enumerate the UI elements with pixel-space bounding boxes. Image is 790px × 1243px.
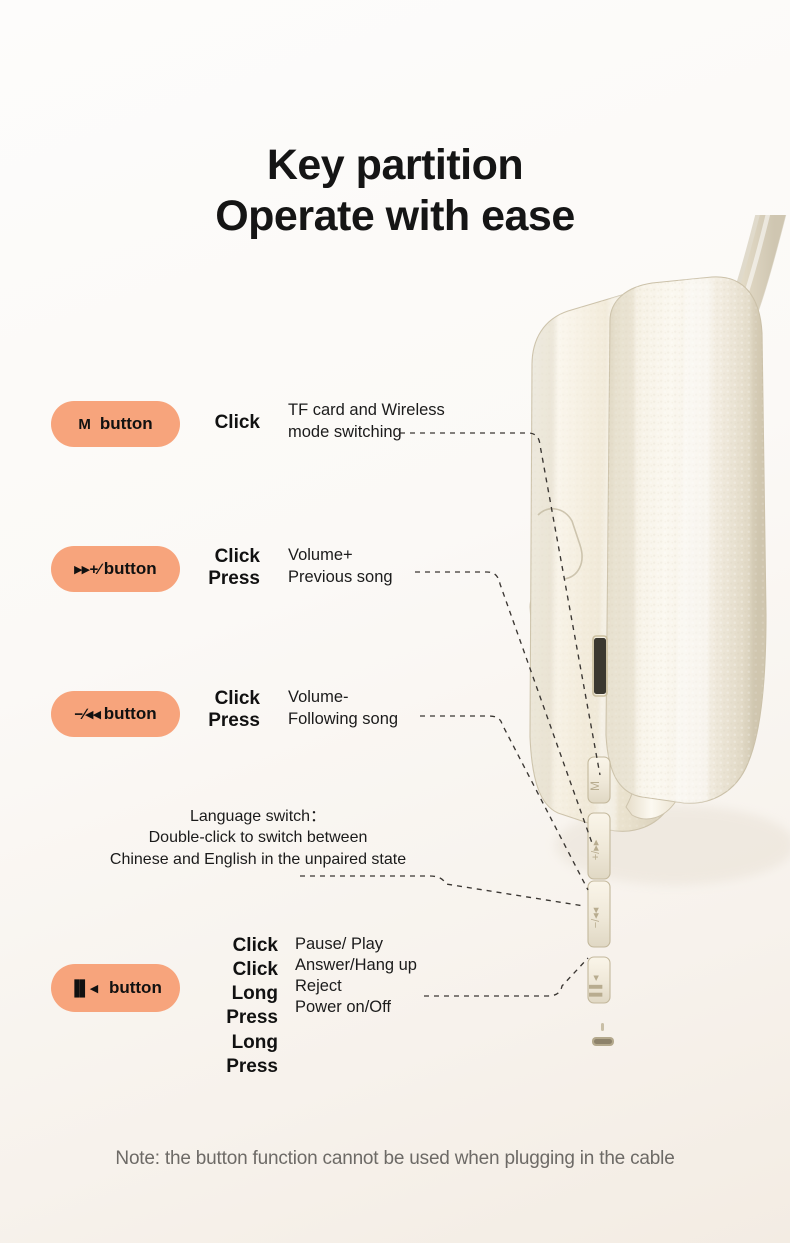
- svg-text:−/◂◂: −/◂◂: [590, 907, 602, 928]
- language-note-line-2: Double-click to switch between: [28, 827, 488, 848]
- description-item: TF card and Wireless: [288, 400, 478, 422]
- description-item: Reject: [295, 976, 505, 997]
- language-switch-note: Language switch： Double-click to switch …: [28, 806, 488, 870]
- title-line-2: Operate with ease: [0, 191, 790, 242]
- description-item: Volume+: [288, 545, 478, 567]
- description-column-volume-up: Volume+ Previous song: [288, 545, 478, 589]
- title-line-1: Key partition: [0, 140, 790, 191]
- action-item: Press: [198, 568, 260, 590]
- action-column-volume-up: Click Press: [198, 546, 260, 591]
- svg-text:M: M: [588, 781, 602, 791]
- action-column-volume-down: Click Press: [198, 688, 260, 733]
- description-item: Answer/Hang up: [295, 955, 505, 976]
- action-item: Click: [178, 958, 278, 982]
- physical-button-m: M: [588, 757, 610, 803]
- action-item: Press: [198, 710, 260, 732]
- physical-button-volume-down: −/◂◂: [588, 881, 610, 947]
- action-item: Click: [198, 412, 260, 434]
- pill-m-button[interactable]: M button: [51, 401, 180, 447]
- physical-button-play-pause: ▌▌◂: [588, 957, 610, 1003]
- pill-volume-up-button[interactable]: ▸▸+∕ button: [51, 546, 180, 592]
- charging-port-shape: [592, 1023, 614, 1046]
- description-item: Pause/ Play: [295, 934, 505, 955]
- description-column-volume-down: Volume- Following song: [288, 687, 488, 731]
- pill-glyph-volume-down: −∕◂◂: [74, 707, 100, 722]
- tf-card-slot-shape: [593, 636, 607, 696]
- pill-play-pause-button[interactable]: ▐▌◂ button: [51, 964, 180, 1012]
- description-item: Power on/Off: [295, 997, 505, 1018]
- svg-text:+/▸▸: +/▸▸: [590, 839, 602, 860]
- action-item: Click: [178, 934, 278, 958]
- pill-word-volume-down: button: [104, 704, 157, 724]
- description-item: Following song: [288, 709, 488, 731]
- language-note-line-3: Chinese and English in the unpaired stat…: [28, 849, 488, 870]
- action-item: Long Press: [178, 982, 278, 1030]
- svg-text:▌▌◂: ▌▌◂: [588, 975, 603, 997]
- pill-word-volume-up: button: [104, 559, 157, 579]
- pill-volume-down-button[interactable]: −∕◂◂ button: [51, 691, 180, 737]
- description-column-m: TF card and Wireless mode switching: [288, 400, 478, 444]
- action-item: Click: [198, 546, 260, 568]
- action-column-m: Click: [198, 412, 260, 434]
- description-item: Volume-: [288, 687, 488, 709]
- description-item: mode switching: [288, 422, 478, 444]
- description-item: Previous song: [288, 567, 478, 589]
- bottom-note: Note: the button function cannot be used…: [0, 1148, 790, 1170]
- action-item: Click: [198, 688, 260, 710]
- pill-glyph-play-pause: ▐▌◂: [69, 981, 98, 996]
- headphone-illustration: M +/▸▸ −/◂◂ ▌▌◂: [460, 215, 790, 1075]
- page-title: Key partition Operate with ease: [0, 140, 790, 241]
- product-infographic: M +/▸▸ −/◂◂ ▌▌◂: [0, 0, 790, 1243]
- language-note-line-1: Language switch：: [28, 806, 488, 827]
- action-item: Long Press: [178, 1031, 278, 1079]
- description-column-play-pause: Pause/ Play Answer/Hang up Reject Power …: [295, 934, 505, 1018]
- action-column-play-pause: Click Click Long Press Long Press: [178, 934, 278, 1079]
- pill-word-play-pause: button: [109, 978, 162, 998]
- physical-button-volume-up: +/▸▸: [588, 813, 610, 879]
- pill-glyph-m: M: [78, 417, 91, 432]
- pill-word-m: button: [100, 414, 153, 434]
- pill-glyph-volume-up: ▸▸+∕: [74, 562, 100, 577]
